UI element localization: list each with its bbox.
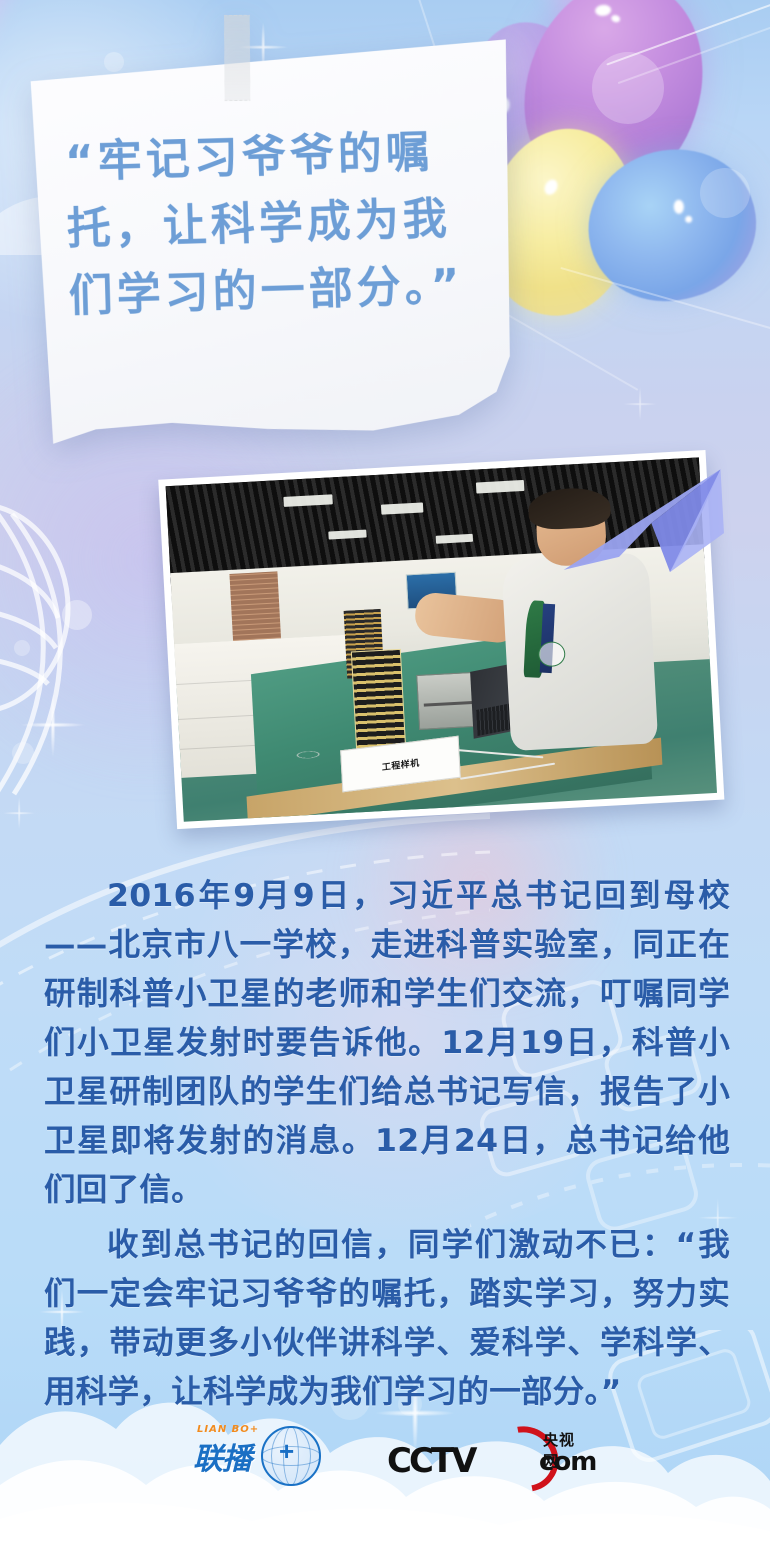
school-badge	[538, 641, 566, 667]
paper-airplane-icon	[552, 463, 728, 592]
satellite-prototype	[351, 649, 407, 754]
cctv-wordmark: CCTV	[387, 1441, 474, 1481]
quote-note-card: “牢记习爷爷的嘱托，让科学成为我们学习的一部分。”	[28, 39, 518, 492]
sparkle-icon	[0, 790, 42, 836]
footer-logos: LIAN BO+ 联播 + CCTV 央视网 com	[0, 1412, 770, 1494]
tape-strip-icon	[224, 15, 251, 101]
sparkle-icon	[8, 680, 98, 770]
article-paragraph-1: 2016年9月9日，习近平总书记回到母校——北京市八一学校，走进科普实验室，同正…	[44, 872, 730, 1215]
sparkle-icon	[616, 380, 664, 428]
photo-card: 工程样机	[148, 436, 759, 867]
poster-canvas: “牢记习爷爷的嘱托，让科学成为我们学习的一部分。”	[0, 0, 770, 1545]
cctv-com-text: com	[539, 1447, 596, 1477]
bokeh-dot	[62, 600, 92, 630]
quote-text: “牢记习爷爷的嘱托，让科学成为我们学习的一部分。”	[64, 118, 479, 330]
article-paragraph-2: 收到总书记的回信，同学们激动不已：“我们一定会牢记习爷爷的嘱托，踏实学习，努力实…	[44, 1221, 730, 1417]
lianbo-chinese-text: 联播	[193, 1434, 251, 1478]
lianbo-plus-symbol: +	[279, 1436, 294, 1467]
lianbo-plus-logo[interactable]: LIAN BO+ 联播 +	[193, 1422, 321, 1484]
bokeh-dot	[592, 52, 664, 124]
cctv-logo[interactable]: CCTV 央视网 com	[387, 1425, 577, 1481]
article-body: 2016年9月9日，习近平总书记回到母校——北京市八一学校，走进科普实验室，同正…	[44, 872, 730, 1423]
bokeh-dot	[14, 640, 30, 656]
